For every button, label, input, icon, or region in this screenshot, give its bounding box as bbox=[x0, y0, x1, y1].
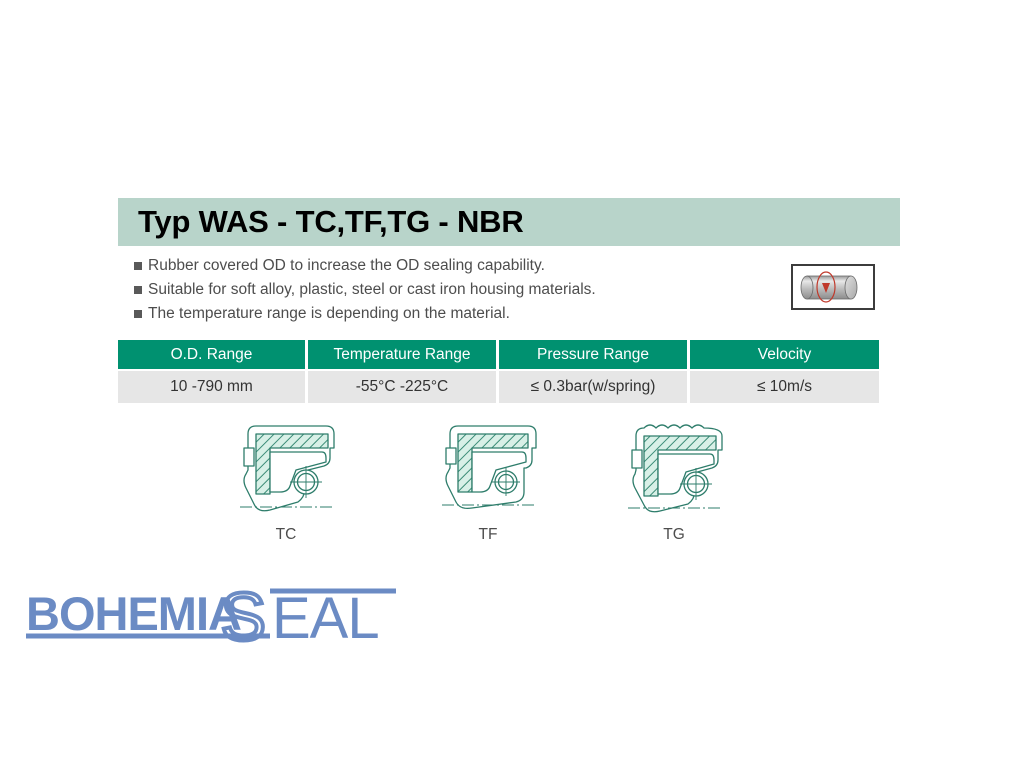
column-header-velocity: Velocity bbox=[690, 340, 879, 369]
page-title: Typ WAS - TC,TF,TG - NBR bbox=[138, 204, 524, 240]
rotating-shaft-icon-box bbox=[791, 264, 875, 310]
feature-text: Rubber covered OD to increase the OD sea… bbox=[148, 256, 545, 277]
title-banner: Typ WAS - TC,TF,TG - NBR bbox=[118, 198, 900, 246]
square-bullet-icon bbox=[134, 262, 142, 270]
feature-list: Rubber covered OD to increase the OD sea… bbox=[134, 256, 754, 328]
seal-diagrams: TC TF bbox=[118, 418, 876, 553]
rotating-shaft-icon bbox=[793, 266, 873, 308]
list-item: Rubber covered OD to increase the OD sea… bbox=[134, 256, 754, 277]
list-item: The temperature range is depending on th… bbox=[134, 304, 754, 325]
seal-diagram-tc: TC bbox=[211, 418, 361, 544]
column-header-pressure: Pressure Range bbox=[499, 340, 687, 369]
list-item: Suitable for soft alloy, plastic, steel … bbox=[134, 280, 754, 301]
feature-text: Suitable for soft alloy, plastic, steel … bbox=[148, 280, 596, 301]
cell-pressure: ≤ 0.3bar(w/spring) bbox=[499, 371, 687, 403]
logo-text-s: S bbox=[221, 579, 266, 648]
seal-label-tg: TG bbox=[599, 526, 749, 544]
seal-cross-section-tc-icon bbox=[230, 418, 342, 524]
bohemia-seal-logo-icon: BOHEMIA S EAL bbox=[18, 578, 418, 648]
seal-diagram-tf: TF bbox=[413, 418, 563, 544]
seal-cross-section-tf-icon bbox=[432, 418, 544, 524]
square-bullet-icon bbox=[134, 310, 142, 318]
logo-text-bohemia: BOHEMIA bbox=[26, 587, 241, 640]
company-logo: BOHEMIA S EAL bbox=[18, 578, 418, 648]
feature-text: The temperature range is depending on th… bbox=[148, 304, 510, 325]
table-header-row: O.D. Range Temperature Range Pressure Ra… bbox=[118, 340, 876, 369]
square-bullet-icon bbox=[134, 286, 142, 294]
seal-cross-section-tg-icon bbox=[618, 418, 730, 524]
cell-od-range: 10 -790 mm bbox=[118, 371, 305, 403]
cell-temperature: -55°C -225°C bbox=[308, 371, 496, 403]
table-row: 10 -790 mm -55°C -225°C ≤ 0.3bar(w/sprin… bbox=[118, 371, 876, 403]
spec-table: O.D. Range Temperature Range Pressure Ra… bbox=[118, 340, 876, 403]
seal-label-tc: TC bbox=[211, 526, 361, 544]
cell-velocity: ≤ 10m/s bbox=[690, 371, 879, 403]
seal-diagram-tg: TG bbox=[599, 418, 749, 544]
column-header-od-range: O.D. Range bbox=[118, 340, 305, 369]
column-header-temperature: Temperature Range bbox=[308, 340, 496, 369]
seal-label-tf: TF bbox=[413, 526, 563, 544]
logo-text-eal: EAL bbox=[272, 586, 379, 648]
